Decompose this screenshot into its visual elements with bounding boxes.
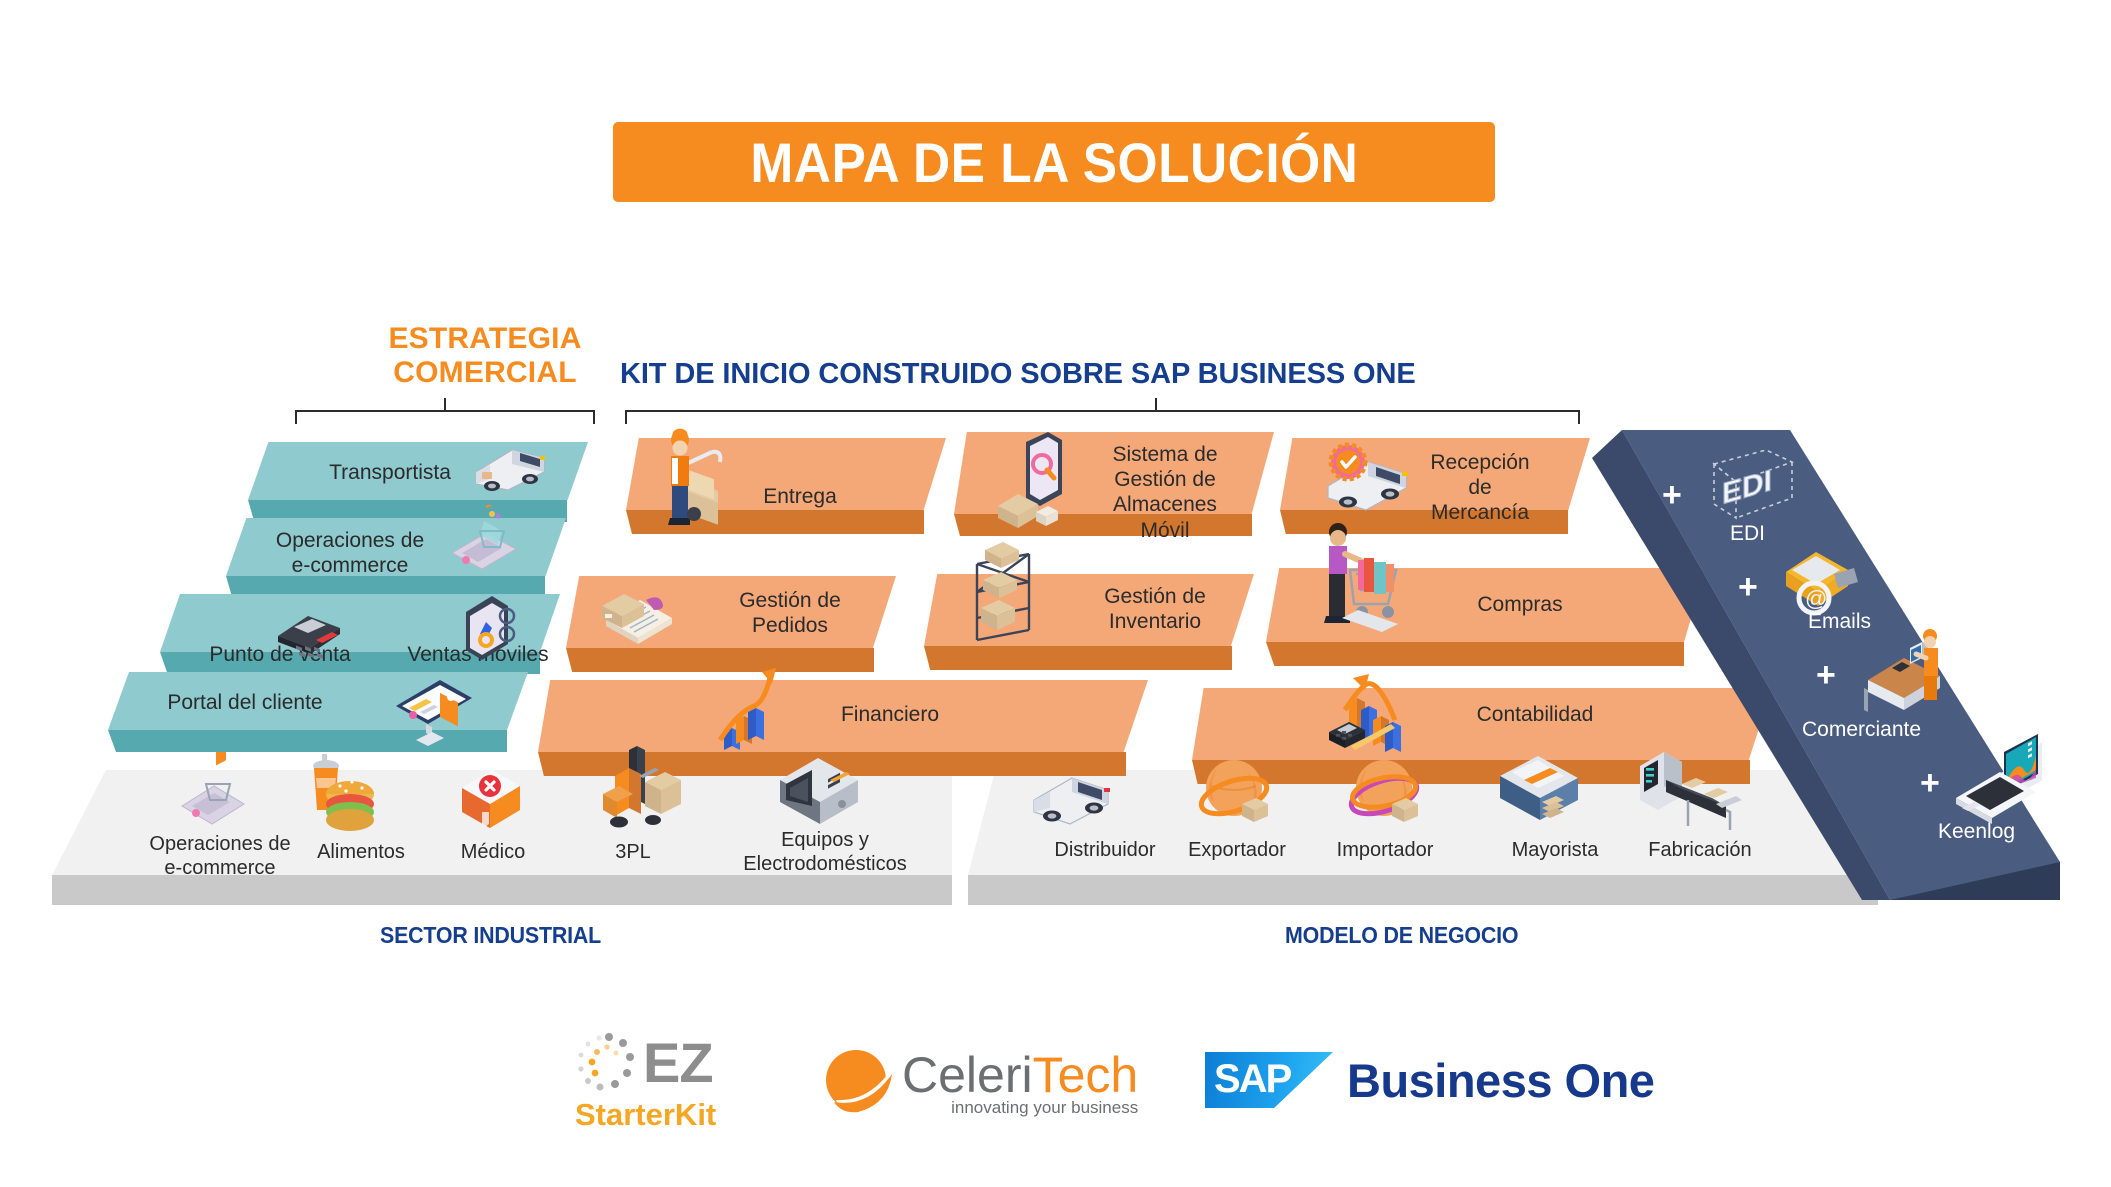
sap-product-name: Business One — [1347, 1053, 1654, 1108]
accounting-calculator-icon — [1325, 648, 1435, 758]
ribbon-plus-keenlog: + — [1920, 766, 1940, 800]
ribbon-label-comerciante: Comerciante — [1802, 718, 1921, 742]
distribution-van-icon — [1020, 758, 1116, 830]
food-burger-drink-icon — [300, 748, 380, 842]
mobile-wms-icon — [992, 432, 1084, 542]
ez-dots-icon — [575, 1031, 643, 1095]
mobile-sales-icon — [452, 570, 524, 662]
export-globe-icon — [1190, 752, 1280, 838]
laptop-analytics-icon — [1944, 734, 2050, 830]
goods-receipt-van-icon — [1312, 440, 1416, 518]
ribbon-plus-comerciante: + — [1816, 658, 1836, 692]
slab-label-gestion-inventario: Gestión de Inventario — [1060, 584, 1250, 634]
integrations-ribbon: + EDI EDI + @ Emails + — [1540, 430, 2100, 900]
page-title: MAPA DE LA SOLUCIÓN — [750, 130, 1358, 195]
footer-label-modelo-negocio: MODELO DE NEGOCIO — [1285, 922, 1518, 949]
slab-label-gestion-pedidos: Gestión de Pedidos — [700, 588, 880, 638]
logo-sap-business-one: SAP Business One — [1205, 1052, 1654, 1108]
forklift-icon — [595, 742, 691, 838]
edi-3d-text-icon: EDI — [1702, 448, 1798, 526]
svg-text:@: @ — [1805, 586, 1827, 611]
slab-label-sistema-gestion-almacenes-movil: Sistema de Gestión de Almacenes Móvil — [1070, 442, 1260, 543]
warehouse-rack-icon — [965, 536, 1045, 656]
mobile-shopping-icon — [440, 505, 528, 577]
card-terminal-icon — [270, 598, 350, 660]
order-clipboard-icon — [592, 578, 682, 648]
import-globe-icon — [1340, 752, 1430, 838]
email-envelope-at-icon: @ — [1778, 538, 1866, 620]
sap-logo-text: SAP — [1214, 1057, 1290, 1102]
slab-label-financiero: Financiero — [790, 702, 990, 727]
logo-ez-main: EZ — [643, 1030, 713, 1095]
ribbon-plus-edi: + — [1662, 478, 1682, 512]
merchant-counter-icon — [1858, 624, 1962, 722]
desktop-portal-icon — [382, 660, 478, 756]
heading-kit-inicio: KIT DE INICIO CONSTRUIDO SOBRE SAP BUSIN… — [620, 358, 1416, 391]
shopping-cart-person-icon — [1312, 518, 1408, 646]
base-label-3pl: 3PL — [548, 840, 718, 864]
slab-label-operaciones-ecommerce: Operaciones de e-commerce — [245, 528, 455, 578]
medical-kit-icon — [452, 754, 530, 840]
heading-estrategia-comercial: ESTRATEGIA COMERCIAL — [370, 322, 600, 390]
ribbon-plus-emails: + — [1738, 570, 1758, 604]
logo-ez-starterkit: EZ StarterKit — [575, 1030, 716, 1133]
base-label-equipos-electrodomesticos: Equipos y Electrodomésticos — [700, 828, 950, 876]
logo-celeritech-part1: Celeri — [902, 1047, 1033, 1103]
delivery-worker-icon — [650, 420, 740, 534]
celeritech-swoosh-icon — [820, 1048, 896, 1118]
bracket-estrategia — [295, 398, 595, 426]
footer-label-sector-industrial: SECTOR INDUSTRIAL — [380, 922, 601, 949]
delivery-van-icon — [460, 432, 550, 498]
microwave-appliance-icon — [770, 750, 866, 832]
page-title-banner: MAPA DE LA SOLUCIÓN — [613, 122, 1495, 202]
finance-chart-icon — [710, 650, 790, 756]
logo-celeritech: CeleriTech innovating your business — [820, 1046, 1138, 1118]
slab-label-portal-del-cliente: Portal del cliente — [130, 690, 360, 715]
ribbon-label-edi: EDI — [1730, 522, 1765, 546]
sap-logo-mark: SAP — [1205, 1052, 1333, 1108]
mobile-ecommerce-icon — [170, 752, 256, 838]
base-label-importador: Importador — [1290, 838, 1480, 862]
logo-ez-sub: StarterKit — [575, 1097, 716, 1133]
svg-text:EDI: EDI — [1722, 463, 1772, 511]
ribbon-label-keenlog: Keenlog — [1938, 820, 2015, 844]
bracket-kit-right — [1325, 398, 1580, 426]
logo-celeritech-part2: Tech — [1033, 1047, 1139, 1103]
